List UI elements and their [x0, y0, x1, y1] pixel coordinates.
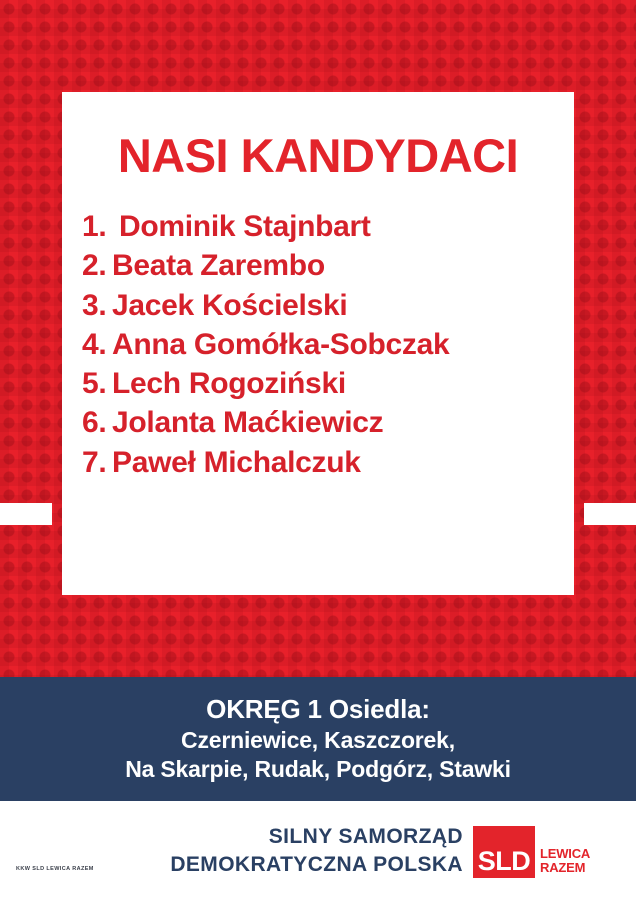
candidate-number: 6.: [82, 403, 112, 442]
list-item: 6. Jolanta Maćkiewicz: [82, 403, 574, 442]
sld-lewica-razem-logo: SLD LEWICA RAZEM: [473, 826, 589, 878]
candidate-name: Paweł Michalczuk: [112, 443, 361, 482]
district-line-2: Na Skarpie, Rudak, Podgórz, Stawki: [125, 755, 511, 784]
slogan-line-1: SILNY SAMORZĄD: [143, 823, 463, 851]
candidate-name: Jacek Kościelski: [112, 286, 347, 325]
logo-wordmark: LEWICA RAZEM: [535, 826, 590, 878]
logo-word-razem: RAZEM: [540, 861, 590, 875]
list-item: 2. Beata Zarembo: [82, 246, 574, 285]
district-headline: OKRĘG 1 Osiedla:: [206, 694, 430, 726]
slogan-line-2: DEMOKRATYCZNA POLSKA: [143, 851, 463, 879]
election-poster: NASI KANDYDACI 1. Dominik Stajnbart 2. B…: [0, 0, 636, 900]
list-item: 4. Anna Gomółka-Sobczak: [82, 325, 574, 364]
right-white-notch: [584, 503, 636, 525]
district-banner: OKRĘG 1 Osiedla: Czerniewice, Kaszczorek…: [0, 677, 636, 801]
district-line-1: Czerniewice, Kaszczorek,: [181, 726, 455, 755]
slogan: SILNY SAMORZĄD DEMOKRATYCZNA POLSKA: [143, 823, 463, 879]
left-white-notch: [0, 503, 52, 525]
list-item: 5. Lech Rogoziński: [82, 364, 574, 403]
candidate-name: Anna Gomółka-Sobczak: [112, 325, 449, 364]
candidate-number: 4.: [82, 325, 112, 364]
list-item: 1. Dominik Stajnbart: [82, 207, 574, 246]
candidate-number: 7.: [82, 443, 112, 482]
candidate-number: 1.: [82, 207, 112, 246]
logo-word-lewica: LEWICA: [540, 847, 590, 861]
candidate-name: Beata Zarembo: [112, 246, 325, 285]
candidate-name: Jolanta Maćkiewicz: [112, 403, 383, 442]
logo-sld-text: SLD: [473, 826, 535, 878]
candidates-card: NASI KANDYDACI 1. Dominik Stajnbart 2. B…: [62, 92, 574, 595]
candidate-number: 2.: [82, 246, 112, 285]
candidate-name: Lech Rogoziński: [112, 364, 346, 403]
page-title: NASI KANDYDACI: [62, 92, 574, 179]
candidate-list: 1. Dominik Stajnbart 2. Beata Zarembo 3.…: [62, 179, 574, 482]
candidate-number: 5.: [82, 364, 112, 403]
committee-attribution: KKW SLD LEWICA RAZEM: [16, 866, 94, 872]
candidate-number: 3.: [82, 286, 112, 325]
candidate-name: Dominik Stajnbart: [112, 207, 371, 246]
list-item: 7. Paweł Michalczuk: [82, 443, 574, 482]
list-item: 3. Jacek Kościelski: [82, 286, 574, 325]
